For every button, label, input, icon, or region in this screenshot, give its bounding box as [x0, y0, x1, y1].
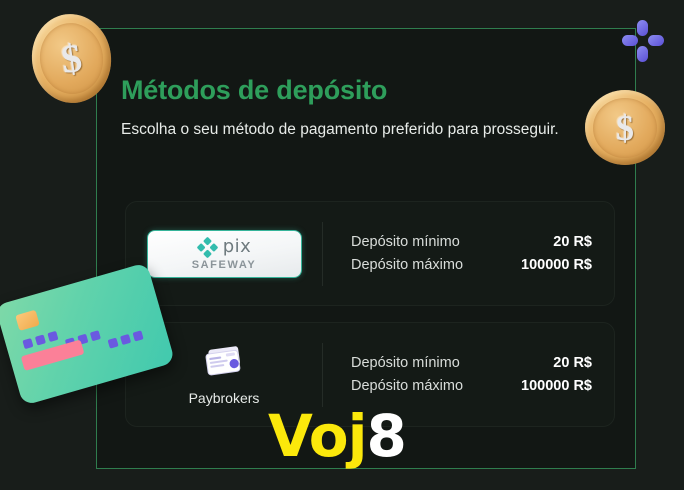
- page-subtitle: Escolha o seu método de pagamento prefer…: [121, 118, 566, 143]
- plus-petal-left: [622, 35, 638, 46]
- pix-max-deposit-row: Depósito máximo 100000 R$: [351, 257, 592, 273]
- pix-deposit-limits: Depósito mínimo 20 R$ Depósito máximo 10…: [323, 234, 614, 273]
- watermark-primary-text: Voj: [268, 402, 366, 470]
- plus-petal-right: [648, 35, 664, 46]
- pix-logo-row: pix: [197, 236, 252, 258]
- coin-dollar-glyph: $: [58, 34, 84, 83]
- panel-heading: Métodos de depósito Escolha o seu método…: [121, 75, 591, 143]
- paybrokers-max-deposit-label: Depósito máximo: [351, 378, 463, 394]
- gold-coin-dollar-icon: $: [585, 90, 665, 165]
- voj8-brand-watermark: Voj8: [268, 407, 406, 465]
- stacked-cards-icon: [201, 343, 247, 383]
- pix-wordmark: pix: [223, 238, 252, 256]
- card-number-group-3: [108, 330, 144, 348]
- pix-max-deposit-label: Depósito máximo: [351, 257, 463, 273]
- pix-min-deposit-value: 20 R$: [553, 234, 592, 250]
- paybrokers-min-deposit-row: Depósito mínimo 20 R$: [351, 355, 592, 371]
- watermark-secondary-text: 8: [366, 402, 405, 470]
- paybrokers-max-deposit-row: Depósito máximo 100000 R$: [351, 378, 592, 394]
- payment-method-pix-safeway[interactable]: pix SAFEWAY Depósito mínimo 20 R$ Depósi…: [125, 201, 615, 306]
- purple-plus-sparkle-icon: [622, 20, 664, 62]
- paybrokers-deposit-limits: Depósito mínimo 20 R$ Depósito máximo 10…: [323, 355, 614, 394]
- pix-safeway-logo-tile[interactable]: pix SAFEWAY: [147, 230, 302, 278]
- paybrokers-max-deposit-value: 100000 R$: [521, 378, 592, 394]
- plus-petal-bottom: [637, 46, 648, 62]
- pix-max-deposit-value: 100000 R$: [521, 257, 592, 273]
- pix-min-deposit-label: Depósito mínimo: [351, 234, 460, 250]
- pix-min-deposit-row: Depósito mínimo 20 R$: [351, 234, 592, 250]
- page-title: Métodos de depósito: [121, 75, 591, 106]
- pix-diamond-icon: [197, 237, 218, 258]
- safeway-sublabel: SAFEWAY: [192, 259, 257, 271]
- paybrokers-min-deposit-value: 20 R$: [553, 355, 592, 371]
- paybrokers-min-deposit-label: Depósito mínimo: [351, 355, 460, 371]
- paybrokers-label: Paybrokers: [189, 390, 260, 406]
- plus-petal-top: [637, 20, 648, 36]
- card-chip: [15, 310, 40, 331]
- pix-brand-area: pix SAFEWAY: [126, 230, 322, 278]
- coin-dollar-glyph: $: [616, 107, 634, 149]
- screenshot-root: Métodos de depósito Escolha o seu método…: [0, 0, 684, 490]
- coin-face: $: [593, 98, 657, 158]
